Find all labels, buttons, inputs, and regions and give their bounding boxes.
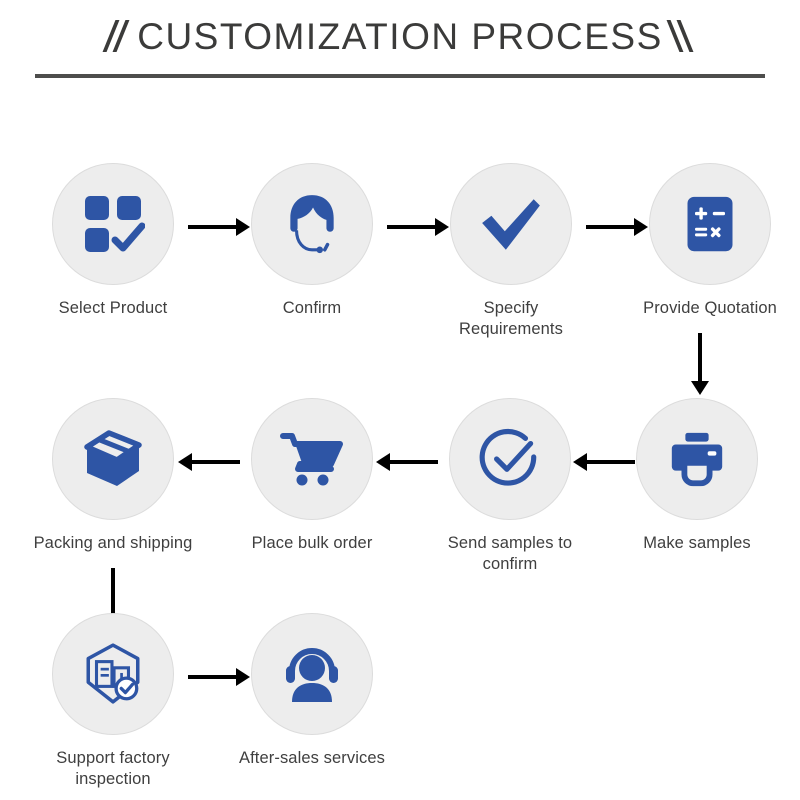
title-row: CUSTOMIZATION PROCESS (0, 8, 800, 64)
arrow-row1-to-row2 (689, 333, 711, 395)
step-icon-circle (636, 398, 758, 520)
step-node-select-product[interactable]: Select Product (33, 163, 193, 319)
printer-machine-icon (666, 428, 728, 490)
step-node-confirm[interactable]: Confirm (232, 163, 392, 319)
step-label: After-sales services (232, 748, 392, 769)
grid-check-icon (81, 192, 145, 256)
page-header: CUSTOMIZATION PROCESS (0, 0, 800, 90)
step-icon-circle (649, 163, 771, 285)
step-label: Confirm (232, 298, 392, 319)
factory-shield-check-icon (80, 641, 146, 707)
page-title: CUSTOMIZATION PROCESS (137, 18, 663, 55)
step-node-after-sales-services[interactable]: After-sales services (232, 613, 392, 769)
customization-process-infographic: CUSTOMIZATION PROCESS Select Product (0, 0, 800, 800)
step-node-specify-requirements[interactable]: Specify Requirements (431, 163, 591, 339)
step-icon-circle (52, 613, 174, 735)
step-icon-circle (251, 398, 373, 520)
step-node-make-samples[interactable]: Make samples (617, 398, 777, 554)
calculator-icon (680, 194, 740, 254)
step-icon-circle (251, 613, 373, 735)
step-icon-circle (450, 163, 572, 285)
step-node-provide-quotation[interactable]: Provide Quotation (630, 163, 790, 319)
step-label: Place bulk order (232, 533, 392, 554)
step-label: Provide Quotation (630, 298, 790, 319)
circle-check-icon (477, 426, 543, 492)
title-divider (35, 74, 765, 78)
step-node-packing-and-shipping[interactable]: Packing and shipping (33, 398, 193, 554)
step-label: Send samples to confirm (430, 533, 590, 574)
package-box-icon (81, 427, 145, 491)
step-node-send-samples-to-confirm[interactable]: Send samples to confirm (430, 398, 590, 574)
step-icon-circle (52, 163, 174, 285)
step-label: Specify Requirements (431, 298, 591, 339)
step-label: Select Product (33, 298, 193, 319)
step-label: Support factory inspection (33, 748, 193, 789)
double-chevron-right-icon (105, 14, 131, 58)
step-icon-circle (52, 398, 174, 520)
double-chevron-left-icon (669, 14, 695, 58)
support-agent-headset-icon (279, 191, 345, 257)
step-label: Packing and shipping (33, 533, 193, 554)
headset-person-icon (280, 642, 344, 706)
shopping-cart-icon (280, 427, 344, 491)
step-node-place-bulk-order[interactable]: Place bulk order (232, 398, 392, 554)
step-label: Make samples (617, 533, 777, 554)
step-node-support-factory-inspection[interactable]: Support factory inspection (33, 613, 193, 789)
step-icon-circle (251, 163, 373, 285)
step-icon-circle (449, 398, 571, 520)
checkmark-icon (478, 191, 544, 257)
